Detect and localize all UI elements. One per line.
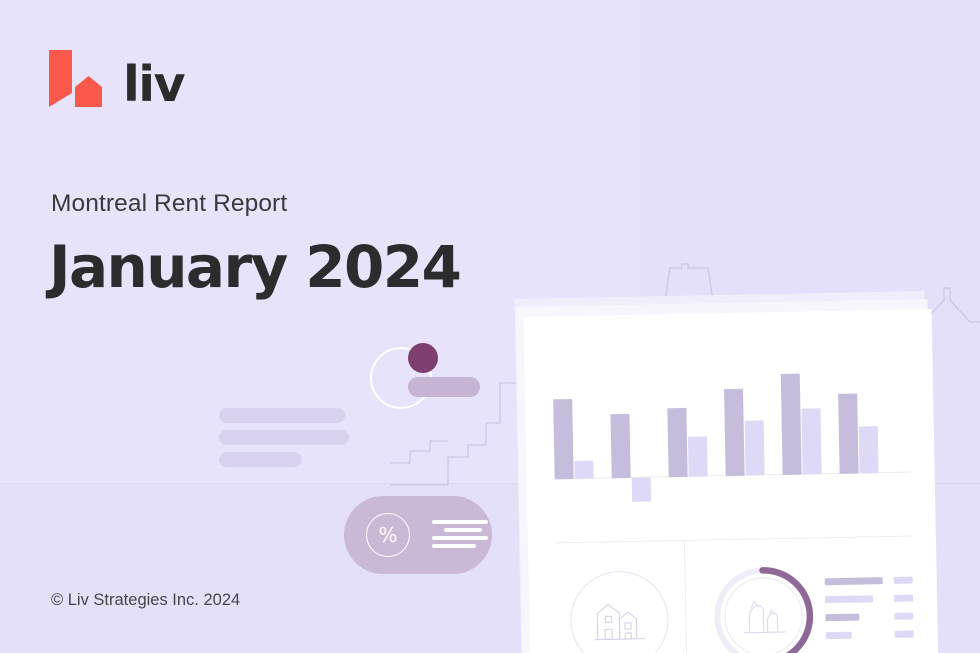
chart-bar-light xyxy=(688,436,708,476)
chart-bar-dark xyxy=(667,408,687,477)
stat-row xyxy=(826,630,914,641)
chart-bar-light xyxy=(801,408,821,474)
percent-icon: % xyxy=(366,513,410,557)
card-horizontal-divider xyxy=(555,535,914,543)
pets-icon xyxy=(741,599,786,634)
pets-panel xyxy=(704,557,916,653)
card-vertical-divider xyxy=(684,540,688,653)
ring-label-pill xyxy=(408,377,480,397)
chart-bar-light xyxy=(574,461,593,479)
percent-callout-card: % xyxy=(344,496,492,574)
pets-donut-chart xyxy=(710,563,816,653)
report-kicker: Montreal Rent Report xyxy=(51,190,287,218)
chart-bar-dark xyxy=(838,394,859,474)
chart-group xyxy=(610,370,658,478)
houses-icon xyxy=(594,600,645,641)
rent-bar-chart xyxy=(553,366,912,518)
page-title: January 2024 xyxy=(49,233,460,301)
percent-text-placeholder xyxy=(432,520,488,552)
stat-bar xyxy=(826,632,852,639)
liv-logo-mark-icon xyxy=(47,50,109,107)
copyright-notice: © Liv Strategies Inc. 2024 xyxy=(51,591,240,610)
skeleton-bar xyxy=(219,430,349,445)
placeholder-line xyxy=(432,544,476,548)
placeholder-line xyxy=(432,520,488,524)
ring-marker-dot xyxy=(408,343,438,373)
pets-stat-list xyxy=(825,576,914,650)
chart-bar-light xyxy=(859,426,879,473)
report-preview[interactable] xyxy=(512,285,980,653)
chart-bar-light xyxy=(745,420,765,475)
skeleton-bar xyxy=(219,452,302,467)
chart-group xyxy=(724,368,772,476)
chart-group xyxy=(838,366,886,474)
stat-row xyxy=(825,612,913,623)
placeholder-line xyxy=(432,536,488,540)
chart-bar-dark xyxy=(781,374,802,475)
chart-group xyxy=(553,372,601,480)
chart-bar-dark xyxy=(610,414,630,478)
chart-bar-dark xyxy=(553,399,574,479)
stat-chip xyxy=(894,577,913,584)
stat-row xyxy=(825,576,913,587)
brand-logo[interactable]: liv xyxy=(47,50,184,107)
brand-wordmark: liv xyxy=(123,62,184,107)
housing-panel xyxy=(555,562,677,653)
cover-page: liv Montreal Rent Report January 2024 © … xyxy=(0,0,980,653)
progress-ring-decoration xyxy=(370,347,500,427)
chart-bar-light-negative xyxy=(632,478,651,502)
placeholder-line xyxy=(444,528,482,532)
stat-bar xyxy=(825,614,859,622)
stat-bar xyxy=(825,577,883,585)
skeleton-bar xyxy=(219,408,345,423)
houses-icon-frame xyxy=(569,570,669,653)
stat-chip xyxy=(894,595,913,602)
stat-row xyxy=(825,594,913,605)
report-page xyxy=(524,309,939,653)
stat-chip xyxy=(894,613,913,620)
chart-bar-dark xyxy=(724,389,745,476)
chart-group xyxy=(667,369,715,477)
stat-bar xyxy=(825,595,873,603)
pets-icon-frame xyxy=(724,577,803,653)
stat-chip xyxy=(895,631,914,638)
chart-group xyxy=(781,367,829,475)
